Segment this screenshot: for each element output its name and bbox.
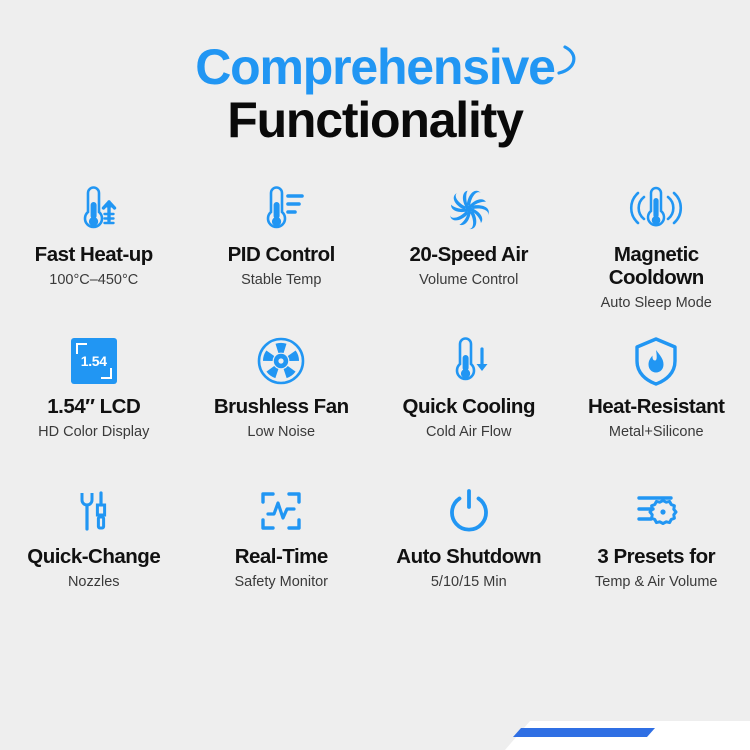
lcd-corner-top-left xyxy=(76,343,87,354)
feature-title: PID Control xyxy=(228,244,335,267)
feature-subtitle: Stable Temp xyxy=(241,272,321,289)
power-icon xyxy=(443,482,495,540)
feature-title: Heat-Resistant xyxy=(588,396,725,419)
feature-card-fast-heat-up: Fast Heat-up 100°C–450°C xyxy=(0,174,188,326)
thermometer-signal-icon xyxy=(628,180,684,238)
wrench-screwdriver-icon xyxy=(68,482,120,540)
feature-card-auto-shutdown: Auto Shutdown 5/10/15 Min xyxy=(375,476,563,624)
feature-title: 20-Speed Air xyxy=(409,244,528,267)
feature-card-quick-cooling: Quick Cooling Cold Air Flow xyxy=(375,326,563,476)
feature-subtitle: 100°C–450°C xyxy=(49,272,138,289)
feature-title: 3 Presets for xyxy=(597,546,715,569)
feature-title: Quick Cooling xyxy=(403,396,535,419)
feature-subtitle: 5/10/15 Min xyxy=(431,574,507,591)
feature-title: Brushless Fan xyxy=(214,396,349,419)
feature-card-presets: 3 Presets for Temp & Air Volume xyxy=(563,476,750,624)
feature-card-brushless-fan: Brushless Fan Low Noise xyxy=(188,326,376,476)
feature-card-quick-change: Quick-Change Nozzles xyxy=(0,476,188,624)
lcd-screen-icon: 1.54 xyxy=(71,332,117,390)
page-title-line-1: Comprehensive xyxy=(195,40,555,94)
feature-card-heat-resistant: Heat-Resistant Metal+Silicone xyxy=(563,326,750,476)
feature-card-20-speed-air: 20-Speed Air Volume Control xyxy=(375,174,563,326)
feature-card-lcd: 1.54 1.54″ LCD HD Color Display xyxy=(0,326,188,476)
bottom-white-panel xyxy=(505,721,750,750)
bottom-blue-bar xyxy=(513,728,655,737)
scan-waveform-icon xyxy=(255,482,307,540)
page-title-line-1-text: Comprehensive xyxy=(195,39,555,95)
thermometer-lines-icon xyxy=(255,180,307,238)
turbine-fan-icon xyxy=(442,180,496,238)
feature-subtitle: Volume Control xyxy=(419,272,518,289)
brushless-fan-icon xyxy=(254,332,308,390)
feature-title: Magnetic Cooldown xyxy=(609,244,704,290)
thermometer-down-icon xyxy=(443,332,495,390)
feature-title: Quick-Change xyxy=(27,546,160,569)
thermometer-up-icon xyxy=(68,180,120,238)
shield-flame-icon xyxy=(630,332,682,390)
feature-subtitle: Metal+Silicone xyxy=(609,424,704,441)
feature-title: Real-Time xyxy=(235,546,328,569)
feature-subtitle: Low Noise xyxy=(247,424,315,441)
feature-grid: Fast Heat-up 100°C–450°C PID Control Sta… xyxy=(0,174,750,624)
feature-card-magnetic-cooldown: Magnetic Cooldown Auto Sleep Mode xyxy=(563,174,750,326)
bottom-decoration xyxy=(0,704,750,750)
lcd-screen-body: 1.54 xyxy=(71,338,117,384)
feature-subtitle: Temp & Air Volume xyxy=(595,574,718,591)
feature-subtitle: HD Color Display xyxy=(38,424,149,441)
feature-subtitle: Nozzles xyxy=(68,574,120,591)
feature-title: Fast Heat-up xyxy=(35,244,153,267)
lcd-corner-bottom-right xyxy=(101,368,112,379)
feature-title: Auto Shutdown xyxy=(396,546,541,569)
feature-subtitle: Auto Sleep Mode xyxy=(601,295,712,312)
page-title-line-2: Functionality xyxy=(0,92,750,148)
feature-subtitle: Cold Air Flow xyxy=(426,424,511,441)
feature-subtitle: Safety Monitor xyxy=(235,574,329,591)
feature-card-real-time: Real-Time Safety Monitor xyxy=(188,476,376,624)
feature-title: 1.54″ LCD xyxy=(47,396,140,419)
page-header: Comprehensive Functionality xyxy=(0,0,750,148)
sliders-gear-icon xyxy=(629,482,683,540)
title-arc-decoration xyxy=(553,44,581,76)
lcd-screen-label: 1.54 xyxy=(81,353,107,369)
feature-card-pid-control: PID Control Stable Temp xyxy=(188,174,376,326)
